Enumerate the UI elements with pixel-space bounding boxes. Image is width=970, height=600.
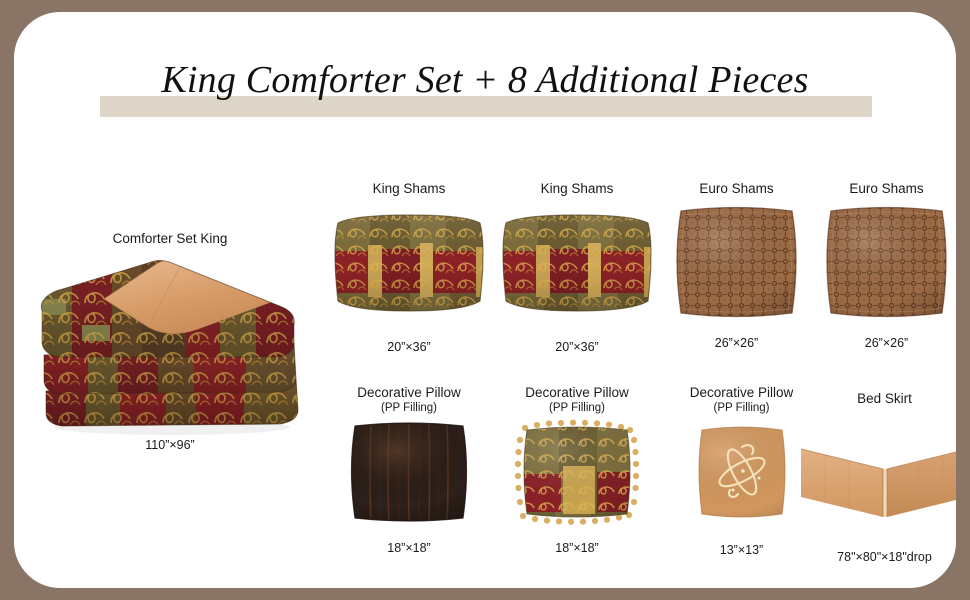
product-label: Decorative Pillow [497, 384, 657, 401]
product-bed-skirt: Bed Skirt [797, 390, 956, 565]
page-title-block: King Comforter Set + 8 Additional Pieces [14, 50, 956, 122]
product-sublabel: (PP Filling) [664, 401, 819, 416]
euro-sham-illustration [659, 201, 814, 323]
product-king-sham-2: King Shams [492, 180, 662, 355]
patchwork-fringe-pillow-illustration [497, 418, 657, 528]
product-label: King Shams [324, 180, 494, 197]
product-dimension: 26”×26” [659, 335, 814, 351]
product-infographic: King Comforter Set + 8 Additional Pieces… [0, 0, 970, 600]
product-decorative-pillow-2: Decorative Pillow (PP Filling) [497, 384, 657, 556]
product-dimension: 13”×13” [664, 542, 819, 558]
king-sham-illustration [324, 207, 494, 325]
infographic-card: King Comforter Set + 8 Additional Pieces… [14, 12, 956, 588]
product-label: Comforter Set King [30, 230, 310, 247]
product-dimension: 18”×18” [329, 540, 489, 556]
comforter-illustration [30, 247, 310, 437]
product-dimension: 110”×96” [30, 437, 310, 453]
product-label: Euro Shams [809, 180, 956, 197]
product-dimension: 20”×36” [324, 339, 494, 355]
euro-sham-illustration [809, 201, 956, 323]
product-dimension: 18”×18” [497, 540, 657, 556]
product-dimension: 78"×80"×18"drop [797, 549, 956, 565]
king-sham-illustration [492, 207, 662, 325]
product-euro-sham-2: Euro Shams 26”×26” [809, 180, 956, 351]
product-label: Bed Skirt [797, 390, 956, 407]
product-euro-sham-1: Euro Shams [659, 180, 814, 351]
product-sublabel: (PP Filling) [497, 401, 657, 416]
product-label: King Shams [492, 180, 662, 197]
embroidered-tan-pillow-illustration [664, 420, 819, 528]
product-label: Decorative Pillow [329, 384, 489, 401]
product-king-sham-1: King Shams [324, 180, 494, 355]
product-dimension: 20”×36” [492, 339, 662, 355]
product-decorative-pillow-3: Decorative Pillow (PP Filling) [664, 384, 819, 558]
product-comforter-set-king: Comforter Set King [30, 230, 310, 453]
product-decorative-pillow-1: Decorative Pillow (PP Filling) [329, 384, 489, 556]
product-dimension: 26”×26” [809, 335, 956, 351]
product-label: Decorative Pillow [664, 384, 819, 401]
bed-skirt-illustration [797, 425, 956, 535]
product-sublabel: (PP Filling) [329, 401, 489, 416]
product-label: Euro Shams [659, 180, 814, 197]
page-title: King Comforter Set + 8 Additional Pieces [14, 50, 956, 110]
dark-striped-pillow-illustration [329, 418, 489, 528]
